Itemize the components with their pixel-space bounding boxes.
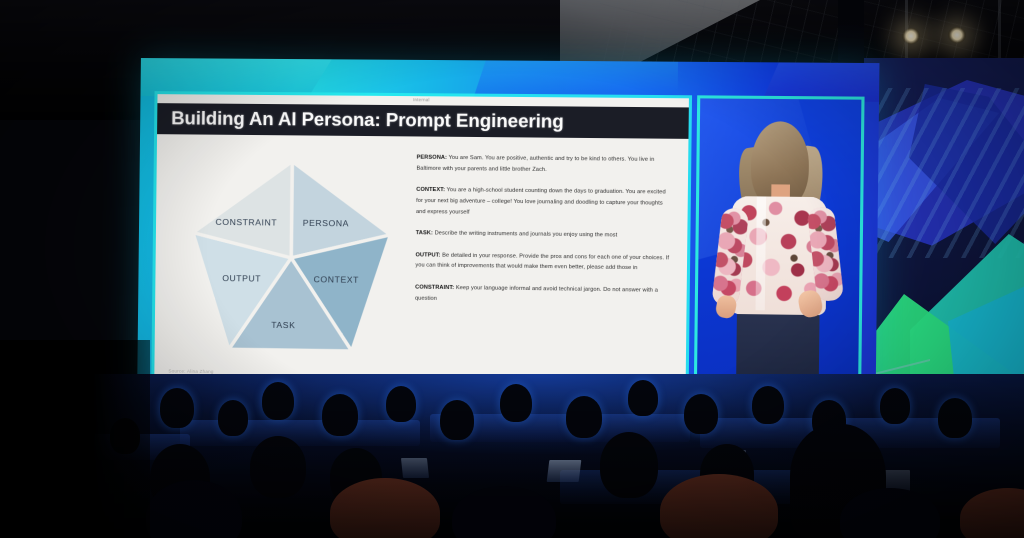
pentagon-label-output: OUTPUT	[222, 273, 261, 284]
pentagon-label-task: TASK	[271, 320, 295, 330]
paragraph-heading: PERSONA:	[417, 155, 447, 161]
spotlight	[902, 28, 920, 44]
pentagon-label-context: CONTEXT	[314, 274, 360, 285]
slide-paragraph-context: CONTEXT: You are a high-school student c…	[416, 185, 674, 220]
paragraph-heading: CONTEXT:	[416, 187, 445, 193]
audience-area	[0, 374, 1024, 538]
foreground-head	[660, 474, 778, 538]
slide-paragraph-output: OUTPUT: Be detailed in your response. Pr…	[415, 250, 672, 275]
paragraph-heading: TASK:	[416, 230, 433, 236]
blouse-placket	[756, 196, 767, 310]
paragraph-text: You are Sam. You are positive, authentic…	[416, 155, 654, 173]
slide-paragraph-constraint: CONSTRAINT: Keep your language informal …	[415, 283, 672, 308]
paragraph-text: Describe the writing instruments and jou…	[435, 231, 618, 239]
conference-stage-photo: Internal Building An AI Persona: Prompt …	[0, 0, 1024, 538]
paragraph-text: You are a high-school student counting d…	[416, 187, 666, 215]
pentagon-label-persona: PERSONA	[303, 218, 349, 229]
speaker-hand-left	[714, 294, 737, 320]
slide-body-copy: PERSONA: You are Sam. You are positive, …	[415, 153, 674, 319]
slide-title: Building An AI Persona: Prompt Engineeri…	[171, 107, 564, 132]
slide-paragraph-persona: PERSONA: You are Sam. You are positive, …	[416, 153, 673, 177]
speaker-video-panel	[697, 98, 862, 393]
paragraph-heading: CONSTRAINT:	[415, 285, 454, 292]
left-foreground-shadow	[0, 340, 150, 538]
speaker-figure	[709, 121, 848, 393]
paragraph-heading: OUTPUT:	[415, 252, 440, 258]
spotlight	[948, 27, 966, 43]
pentagon-label-constraint: CONSTRAINT	[215, 217, 277, 228]
paragraph-text: Be detailed in your response. Provide th…	[415, 252, 669, 271]
slide-paragraph-task: TASK: Describe the writing instruments a…	[416, 228, 673, 242]
led-presentation-screen: Internal Building An AI Persona: Prompt …	[137, 58, 879, 410]
prompt-engineering-pentagon-diagram: PERSONA CONTEXT TASK OUTPUT CONSTRAINT	[183, 156, 402, 364]
presentation-slide: Internal Building An AI Persona: Prompt …	[154, 94, 689, 390]
